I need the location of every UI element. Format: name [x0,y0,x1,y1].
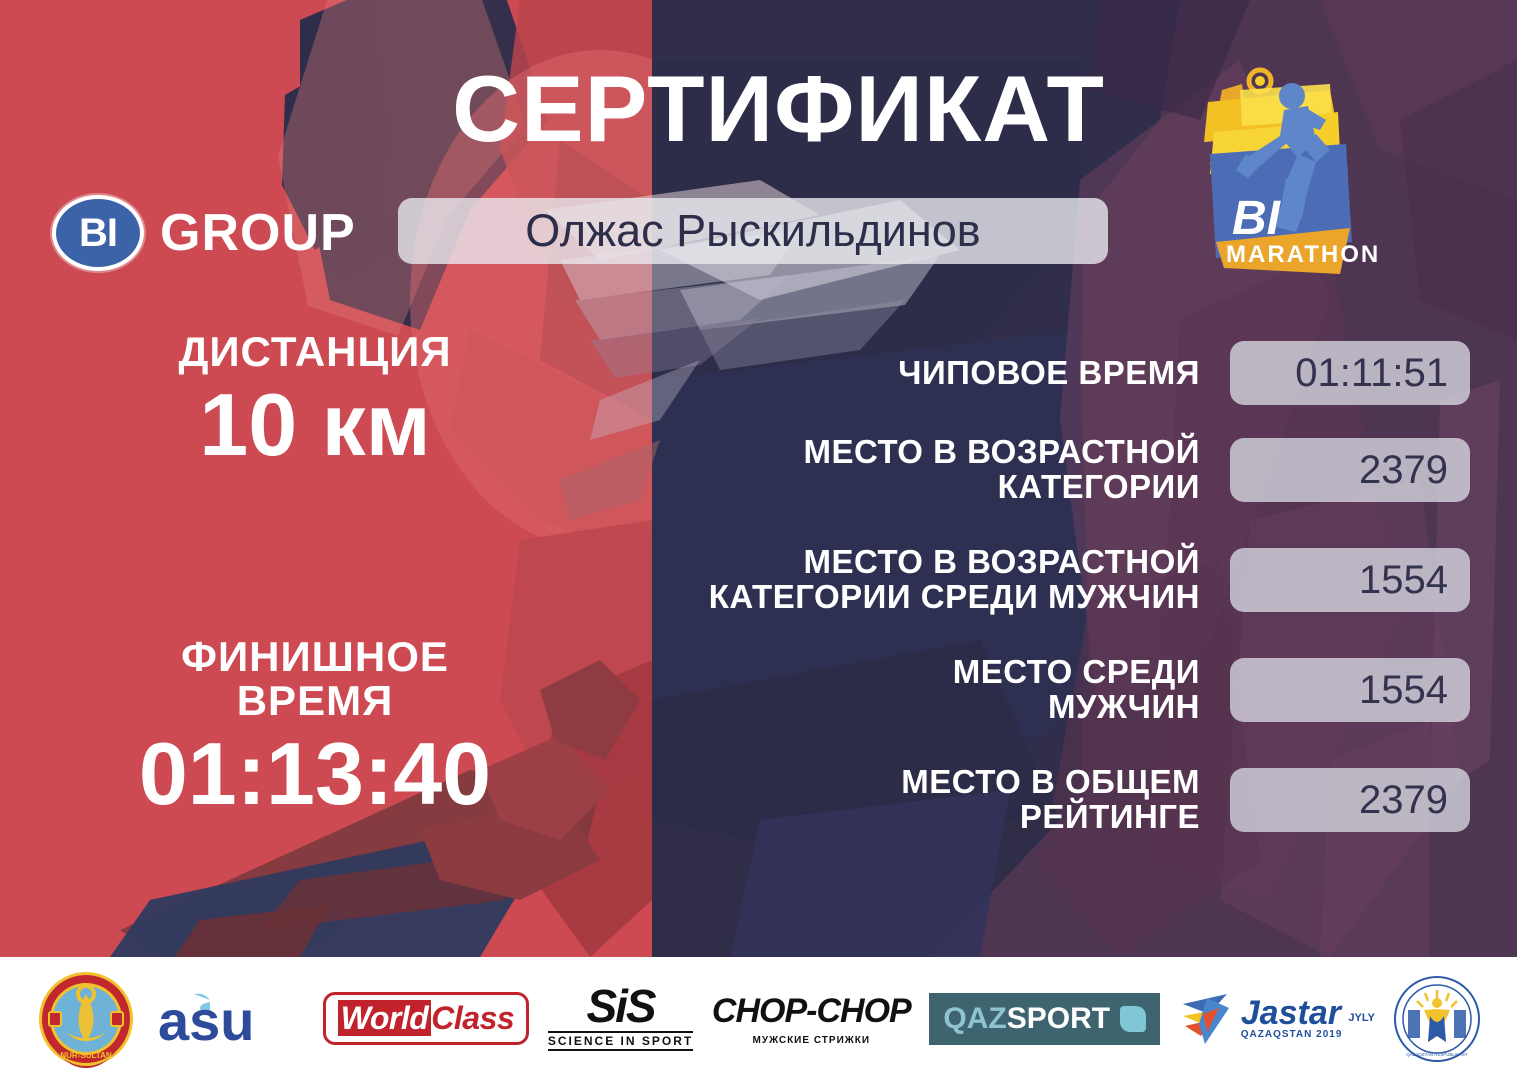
among-men-label-line1: МЕСТО СРЕДИ [540,655,1200,690]
sponsor-chop-chop: CHOP-CHOP МУЖСКИЕ СТРИЖКИ [712,969,911,1069]
finish-time-label-line1: ФИНИШНОЕ [60,635,570,679]
stat-row-chip-time: ЧИПОВОЕ ВРЕМЯ 01:11:51 [540,338,1470,408]
world-class-text-a: World [338,1000,432,1036]
left-stats-finish-time: ФИНИШНОЕ ВРЕМЯ 01:13:40 [60,635,570,824]
jastar-jyly-text: JYLY [1348,1012,1375,1024]
world-class-text-b: Class [431,1000,514,1036]
bi-group-logo: BI GROUP [52,195,356,271]
jastar-subtext: QAZAQSTAN 2019 [1241,1029,1343,1040]
age-category-men-label: МЕСТО В ВОЗРАСТНОЙ КАТЕГОРИИ СРЕДИ МУЖЧИ… [540,545,1230,615]
age-category-label-line1: МЕСТО В ВОЗРАСТНОЙ [540,435,1200,470]
bi-marathon-logo: BI MARATHON [1180,62,1380,292]
stat-row-age-category-men: МЕСТО В ВОЗРАСТНОЙ КАТЕГОРИИ СРЕДИ МУЖЧИ… [540,532,1470,628]
certificate-canvas: СЕРТИФИКАТ BI GROUP Олжас Рыскильдинов [0,0,1517,1080]
among-men-label-line2: МУЖЧИН [540,690,1200,725]
sponsor-sis: SiS SCIENCE IN SPORT [548,969,693,1069]
chip-time-label: ЧИПОВОЕ ВРЕМЯ [540,356,1230,391]
qazsport-text-a: QAZ [943,1002,1006,1035]
sponsor-qazsport: QAZSPORT [929,969,1160,1069]
right-stats-list: ЧИПОВОЕ ВРЕМЯ 01:11:51 МЕСТО В ВОЗРАСТНО… [540,338,1470,862]
age-category-men-value: 1554 [1230,548,1470,612]
qazsport-text-b: SPORT [1007,1002,1110,1035]
overall-label: МЕСТО В ОБЩЕМ РЕЙТИНГЕ [540,765,1230,835]
chop-chop-subtext: МУЖСКИЕ СТРИЖКИ [712,1035,911,1046]
ministry-emblem-text: QAZAQSTAN RESPUBLIKASY [1406,1052,1467,1057]
overall-label-line2: РЕЙТИНГЕ [540,800,1200,835]
header-row: СЕРТИФИКАТ BI GROUP Олжас Рыскильдинов [0,0,1517,300]
overall-value: 2379 [1230,768,1470,832]
asu-text: asu [158,989,255,1052]
age-category-value: 2379 [1230,438,1470,502]
nur-sultan-text: NUR-SULTAN [61,1051,112,1060]
age-category-men-label-line2: КАТЕГОРИИ СРЕДИ МУЖЧИН [540,580,1200,615]
stat-row-age-category: МЕСТО В ВОЗРАСТНОЙ КАТЕГОРИИ 2379 [540,422,1470,518]
sis-text: SiS [548,986,693,1027]
left-stats-distance: ДИСТАНЦИЯ 10 км [60,330,570,475]
distance-label: ДИСТАНЦИЯ [60,330,570,374]
sponsor-nur-sultan-emblem: NUR-SULTAN [37,969,135,1069]
sponsor-world-class: WorldClass [323,969,529,1069]
marathon-word-text: MARATHON [1226,241,1380,268]
athlete-name-badge: Олжас Рыскильдинов [398,198,1108,264]
bi-badge-icon: BI [52,195,144,271]
age-category-men-label-line1: МЕСТО В ВОЗРАСТНОЙ [540,545,1200,580]
chip-time-value: 01:11:51 [1230,341,1470,405]
finish-time-label-line2: ВРЕМЯ [60,679,570,723]
age-category-label-line2: КАТЕГОРИИ [540,470,1200,505]
marathon-bi-text: BI [1232,192,1282,245]
distance-value: 10 км [60,374,570,475]
age-category-label: МЕСТО В ВОЗРАСТНОЙ КАТЕГОРИИ [540,435,1230,505]
sis-subtext: SCIENCE IN SPORT [548,1031,693,1051]
sponsor-ministry-emblem: QAZAQSTAN RESPUBLIKASY [1394,969,1480,1069]
jastar-text: Jastar [1241,997,1343,1029]
chop-chop-text: CHOP-CHOP [712,992,911,1031]
among-men-value: 1554 [1230,658,1470,722]
stat-row-among-men: МЕСТО СРЕДИ МУЖЧИН 1554 [540,642,1470,738]
sponsor-asu: asu [154,969,304,1069]
sponsor-jastar-jyly: Jastar QAZAQSTAN 2019 JYLY [1179,969,1375,1069]
stat-row-overall: МЕСТО В ОБЩЕМ РЕЙТИНГЕ 2379 [540,752,1470,848]
among-men-label: МЕСТО СРЕДИ МУЖЧИН [540,655,1230,725]
sponsor-bar: NUR-SULTAN asu WorldClass SiS SCIENCE IN… [0,957,1517,1080]
bi-group-wordmark: GROUP [160,203,356,263]
finish-time-value: 01:13:40 [60,723,570,824]
jastar-bird-icon [1179,988,1241,1050]
qazsport-square-icon [1120,1006,1146,1032]
overall-label-line1: МЕСТО В ОБЩЕМ [540,765,1200,800]
